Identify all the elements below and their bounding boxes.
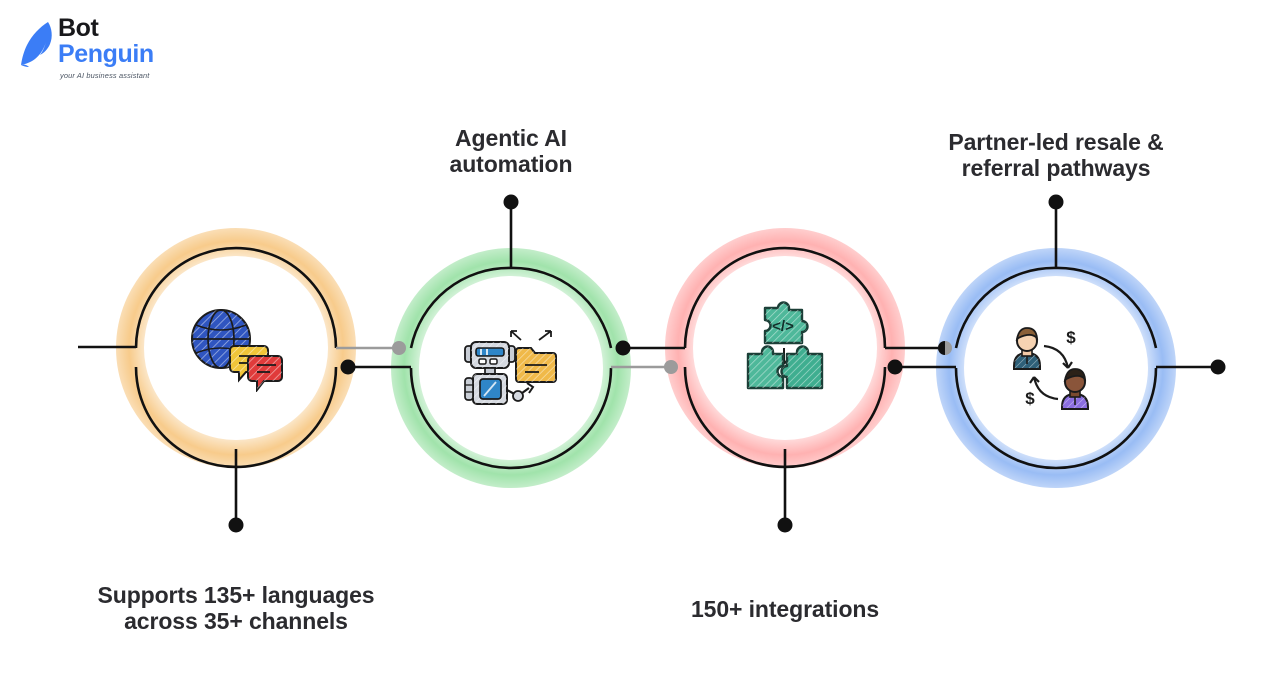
svg-text:$: $ bbox=[1066, 328, 1076, 347]
connector-dot-3-upper-half[interactable] bbox=[938, 341, 945, 355]
node-label-partner-resale: Partner-led resale & referral pathways bbox=[886, 129, 1226, 181]
connector-dot-1-lower[interactable] bbox=[341, 360, 356, 375]
connector-dot-1-upper[interactable] bbox=[392, 341, 406, 355]
node-flow-diagram: </> bbox=[0, 0, 1288, 686]
stem-dot-node-3[interactable] bbox=[778, 518, 793, 533]
connector-dot-2-upper[interactable] bbox=[616, 341, 631, 356]
globe-chat-bubbles-icon bbox=[186, 306, 290, 392]
connector-dot-2-lower[interactable] bbox=[664, 360, 678, 374]
svg-text:$: $ bbox=[1025, 389, 1035, 408]
puzzle-code-icon: </> bbox=[737, 300, 833, 392]
people-money-exchange-icon: $ $ bbox=[1000, 326, 1112, 410]
diagram-canvas: Bot Penguin your AI business assistant bbox=[0, 0, 1288, 686]
node-label-languages-channels: Supports 135+ languages across 35+ chann… bbox=[36, 582, 436, 634]
connector-dot-exit[interactable] bbox=[1211, 360, 1226, 375]
robot-folder-icon bbox=[463, 330, 559, 410]
stem-dot-node-2[interactable] bbox=[504, 195, 519, 210]
stem-dot-node-4[interactable] bbox=[1049, 195, 1064, 210]
node-label-agentic-ai: Agentic AI automation bbox=[361, 125, 661, 177]
svg-text:</>: </> bbox=[772, 318, 794, 335]
connector-dot-3-lower[interactable] bbox=[888, 360, 903, 375]
node-label-integrations: 150+ integrations bbox=[635, 596, 935, 622]
stem-dot-node-1[interactable] bbox=[229, 518, 244, 533]
